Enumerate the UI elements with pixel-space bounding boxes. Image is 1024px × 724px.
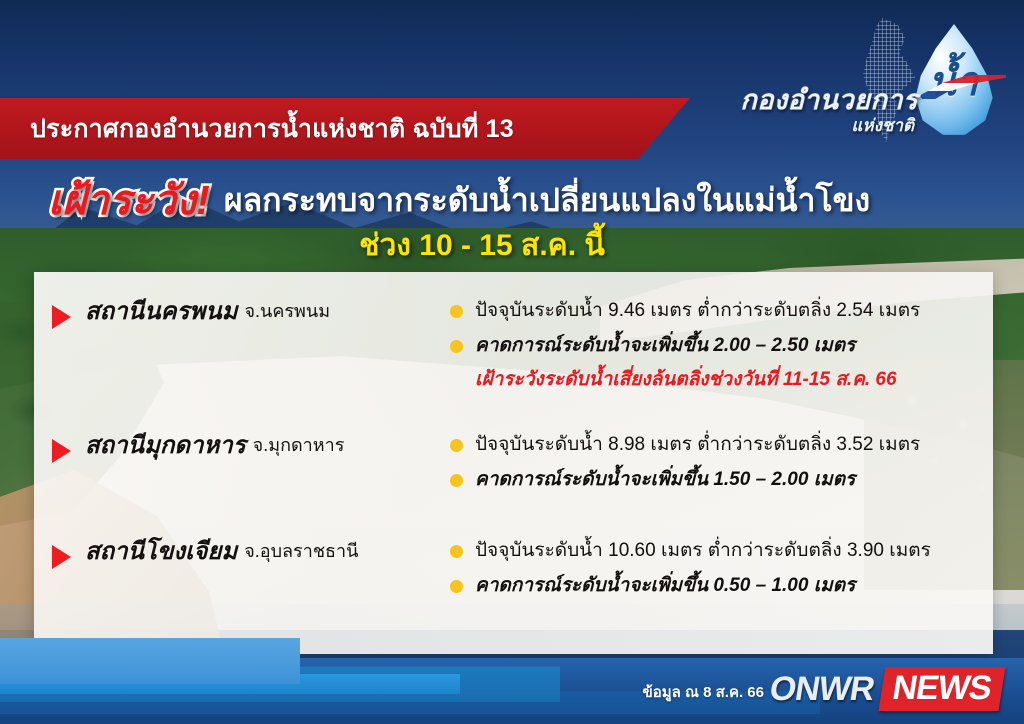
station-heading: สถานีนครพนม จ.นครพนม (34, 294, 450, 329)
detail-bullet: คาดการณ์ระดับน้ำจะเพิ่มขึ้น 0.50 – 1.00 … (450, 573, 993, 599)
station-name: สถานีมุกดาหาร (85, 430, 246, 462)
station-heading: สถานีมุกดาหาร จ.มุกดาหาร (34, 428, 450, 463)
detail-text: คาดการณ์ระดับน้ำจะเพิ่มขึ้น 2.00 – 2.50 … (475, 333, 855, 359)
station-block: สถานีมุกดาหาร จ.มุกดาหาร ปัจจุบันระดับน้… (34, 428, 993, 501)
station-warning: เฝ้าระวังระดับน้ำเสี่ยงล้นตลิ่งช่วงวันที… (475, 367, 993, 393)
detail-text: ปัจจุบันระดับน้ำ 10.60 เมตร ต่ำกว่าระดับ… (475, 538, 931, 564)
dot-bullet-icon (450, 305, 463, 318)
detail-bullet: คาดการณ์ระดับน้ำจะเพิ่มขึ้น 1.50 – 2.00 … (450, 467, 993, 493)
brand-title-line2: แห่งชาติ (851, 112, 914, 139)
station-details: ปัจจุบันระดับน้ำ 10.60 เมตร ต่ำกว่าระดับ… (450, 534, 993, 607)
detail-text: คาดการณ์ระดับน้ำจะเพิ่มขึ้น 0.50 – 1.00 … (475, 573, 855, 599)
station-details: ปัจจุบันระดับน้ำ 8.98 เมตร ต่ำกว่าระดับต… (450, 428, 993, 501)
dot-bullet-icon (450, 439, 463, 452)
onwr-logo-secondary: NEWS (879, 667, 1006, 711)
headline-main: ผลกระทบจากระดับน้ำเปลี่ยนแปลงในแม่น้ำโขง (224, 175, 870, 226)
announcement-band-text: ประกาศกองอำนวยการน้ำแห่งชาติ ฉบับที่ 13 (30, 109, 514, 149)
poster-canvas: น้ำ กองอำนวยการ แห่งชาติ ประกาศกองอำนวยก… (0, 0, 1024, 724)
detail-bullet: คาดการณ์ระดับน้ำจะเพิ่มขึ้น 2.00 – 2.50 … (450, 333, 993, 359)
onwr-news-logo: ONWR NEWS (759, 667, 1006, 711)
station-name: สถานีนครพนม (85, 296, 237, 328)
station-province: จ.นครพนม (244, 296, 330, 325)
dot-bullet-icon (450, 340, 463, 353)
station-block: สถานีนครพนม จ.นครพนม ปัจจุบันระดับน้ำ 9.… (34, 294, 993, 393)
station-details: ปัจจุบันระดับน้ำ 9.46 เมตร ต่ำกว่าระดับต… (450, 294, 993, 393)
station-heading: สถานีโขงเจียม จ.อุบลราชธานี (34, 534, 450, 569)
triangle-bullet-icon (52, 305, 71, 329)
detail-bullet: ปัจจุบันระดับน้ำ 9.46 เมตร ต่ำกว่าระดับต… (450, 298, 993, 324)
content-panel: สถานีนครพนม จ.นครพนม ปัจจุบันระดับน้ำ 9.… (34, 272, 993, 654)
station-province: จ.อุบลราชธานี (244, 536, 358, 565)
detail-text: ปัจจุบันระดับน้ำ 9.46 เมตร ต่ำกว่าระดับต… (475, 298, 920, 324)
station-name: สถานีโขงเจียม (85, 536, 237, 568)
triangle-bullet-icon (52, 545, 71, 569)
detail-bullet: ปัจจุบันระดับน้ำ 10.60 เมตร ต่ำกว่าระดับ… (450, 538, 993, 564)
headline-subtitle: ช่วง 10 - 15 ส.ค. นี้ (0, 222, 1024, 269)
wave-step-front (0, 638, 300, 684)
announcement-band: ประกาศกองอำนวยการน้ำแห่งชาติ ฉบับที่ 13 (0, 98, 690, 159)
onwr-logo-primary: ONWR (759, 670, 885, 709)
onwr-brand-logo: น้ำ กองอำนวยการ แห่งชาติ (716, 16, 1006, 144)
dot-bullet-icon (450, 545, 463, 558)
detail-text: คาดการณ์ระดับน้ำจะเพิ่มขึ้น 1.50 – 2.00 … (475, 467, 855, 493)
dot-bullet-icon (450, 580, 463, 593)
dot-bullet-icon (450, 474, 463, 487)
detail-text: ปัจจุบันระดับน้ำ 8.98 เมตร ต่ำกว่าระดับต… (475, 432, 920, 458)
triangle-bullet-icon (52, 439, 71, 463)
detail-bullet: ปัจจุบันระดับน้ำ 8.98 เมตร ต่ำกว่าระดับต… (450, 432, 993, 458)
station-province: จ.มุกดาหาร (253, 430, 345, 459)
station-block: สถานีโขงเจียม จ.อุบลราชธานี ปัจจุบันระดั… (34, 534, 993, 607)
data-timestamp-note: ข้อมูล ณ 8 ส.ค. 66 (643, 680, 764, 704)
